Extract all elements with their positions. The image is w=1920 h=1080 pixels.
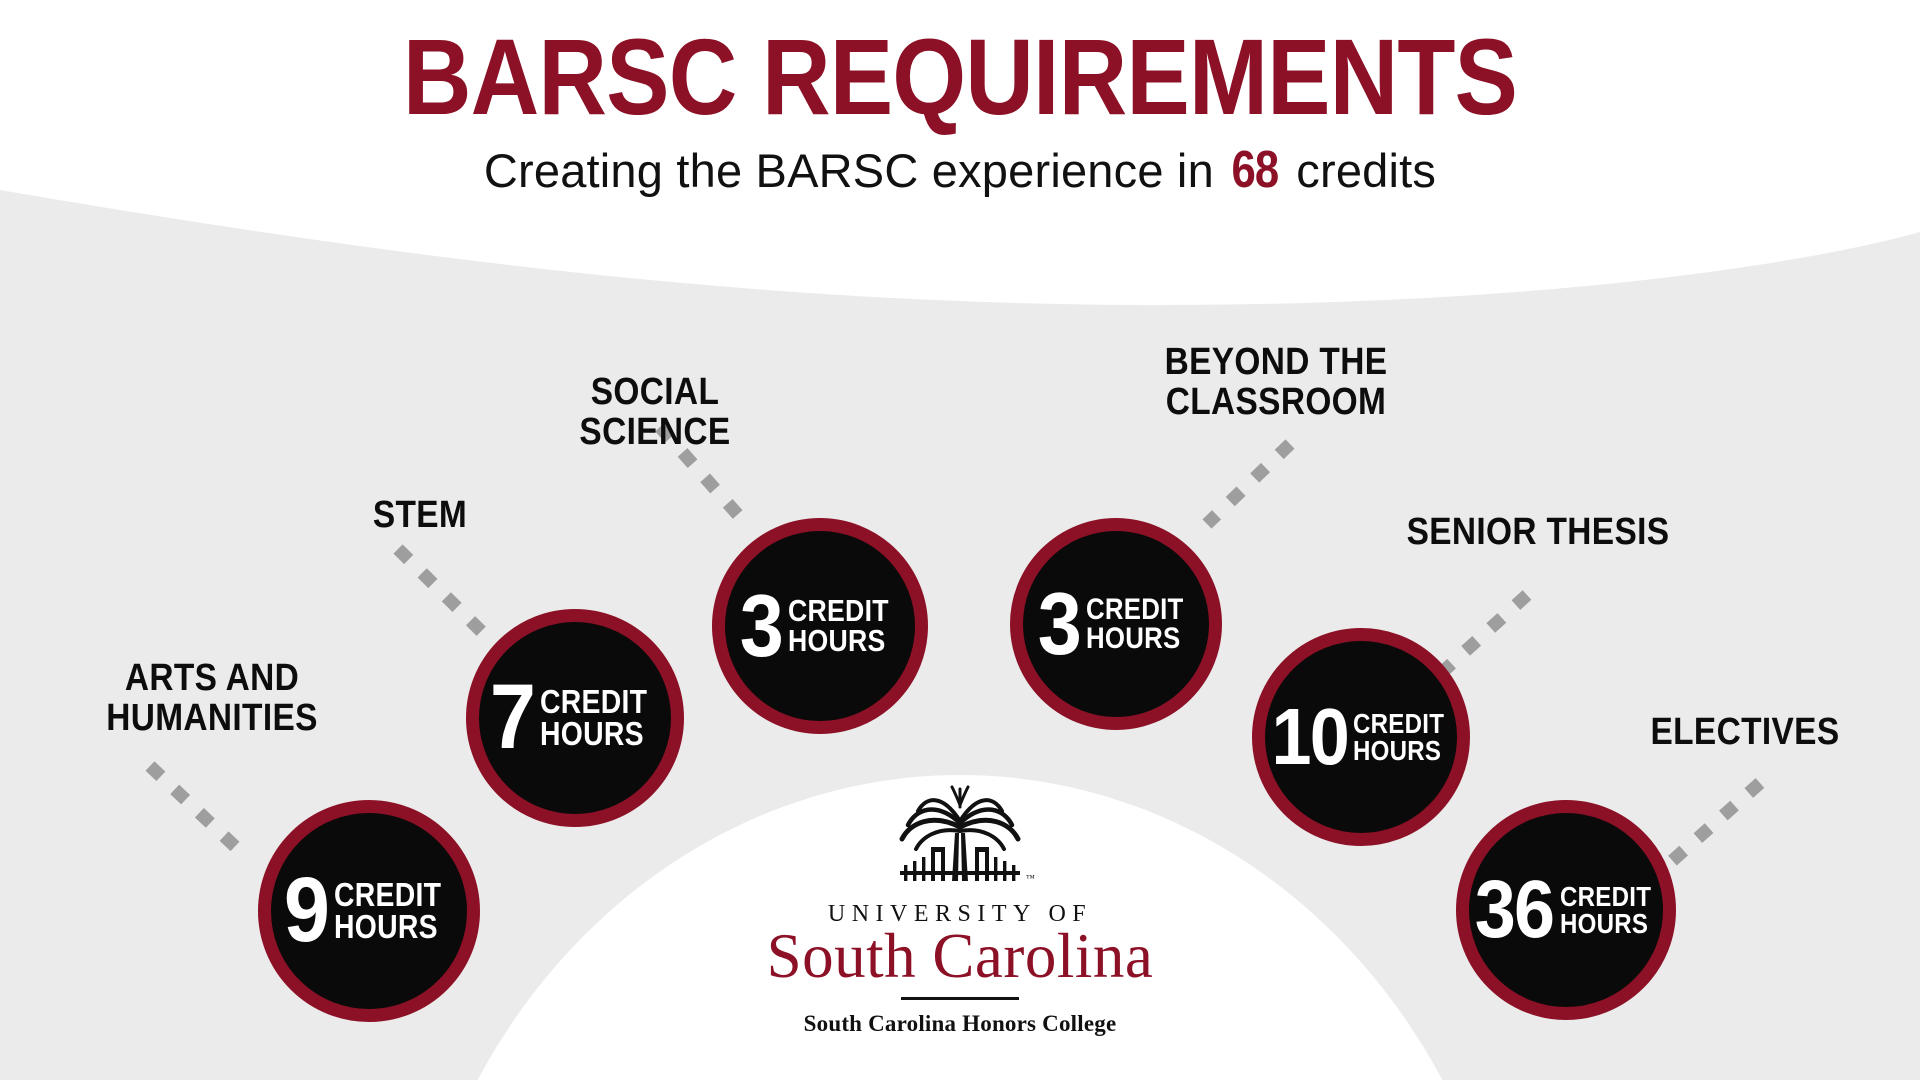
credit-unit-line2-stem: HOURS xyxy=(540,718,647,750)
logo-sub-line: South Carolina Honors College xyxy=(710,1011,1210,1037)
category-label-arts-and-humanities: ARTS AND HUMANITIES xyxy=(98,658,327,739)
credit-circle-social-science[interactable]: 3 CREDIT HOURS xyxy=(712,518,928,734)
credit-circle-beyond-the-classroom[interactable]: 3 CREDIT HOURS xyxy=(1010,518,1222,730)
credit-circle-arts-and-humanities[interactable]: 9 CREDIT HOURS xyxy=(258,800,480,1022)
credit-unit-line2-beyond-the-classroom: HOURS xyxy=(1086,624,1184,653)
credit-value-beyond-the-classroom: 3 xyxy=(1037,586,1079,662)
credit-value-arts-and-humanities: 9 xyxy=(284,871,328,950)
category-label-stem: STEM xyxy=(350,495,491,535)
credit-value-stem: 7 xyxy=(490,678,534,757)
logo-name-line: South Carolina xyxy=(710,926,1210,988)
category-label-beyond-the-classroom: BEYOND THE CLASSROOM xyxy=(1148,342,1403,423)
usc-logo: ™ UNIVERSITY OF South Carolina South Car… xyxy=(710,785,1210,1037)
page-subtitle: Creating the BARSC experience in 68 cred… xyxy=(0,132,1920,200)
credit-unit-line2-senior-thesis: HOURS xyxy=(1353,737,1444,764)
subtitle-text-before: Creating the BARSC experience in xyxy=(484,144,1227,197)
logo-divider xyxy=(901,997,1019,1000)
credit-circle-stem[interactable]: 7 CREDIT HOURS xyxy=(466,609,684,827)
credit-value-social-science: 3 xyxy=(740,588,782,664)
page-title: BARSC REQUIREMENTS xyxy=(115,0,1805,132)
palmetto-tree-icon: ™ xyxy=(880,785,1040,897)
credit-unit-line1-stem: CREDIT xyxy=(540,686,647,718)
credit-unit-line2-arts-and-humanities: HOURS xyxy=(334,911,441,943)
credit-circle-senior-thesis[interactable]: 10 CREDIT HOURS xyxy=(1252,628,1470,846)
credit-unit-line1-electives: CREDIT xyxy=(1560,883,1651,910)
credit-unit-line1-beyond-the-classroom: CREDIT xyxy=(1086,595,1184,624)
credit-value-senior-thesis: 10 xyxy=(1271,703,1347,772)
credit-unit-line1-arts-and-humanities: CREDIT xyxy=(334,879,441,911)
header: BARSC REQUIREMENTS Creating the BARSC ex… xyxy=(0,0,1920,200)
credit-unit-line1-senior-thesis: CREDIT xyxy=(1353,710,1444,737)
subtitle-text-after: credits xyxy=(1283,144,1436,197)
credit-unit-line1-social-science: CREDIT xyxy=(788,596,889,626)
trademark-symbol: ™ xyxy=(1026,873,1035,883)
credit-circle-electives[interactable]: 36 CREDIT HOURS xyxy=(1456,800,1676,1020)
credit-unit-line2-electives: HOURS xyxy=(1560,910,1651,937)
credit-unit-line2-social-science: HOURS xyxy=(788,626,889,656)
category-label-senior-thesis: SENIOR THESIS xyxy=(1406,512,1670,552)
infographic-canvas: BARSC REQUIREMENTS Creating the BARSC ex… xyxy=(0,0,1920,1080)
category-label-electives: ELECTIVES xyxy=(1644,712,1846,752)
category-label-social-science: SOCIAL SCIENCE xyxy=(523,372,787,453)
credit-value-electives: 36 xyxy=(1475,875,1553,946)
subtitle-credit-total: 68 xyxy=(1232,140,1279,200)
